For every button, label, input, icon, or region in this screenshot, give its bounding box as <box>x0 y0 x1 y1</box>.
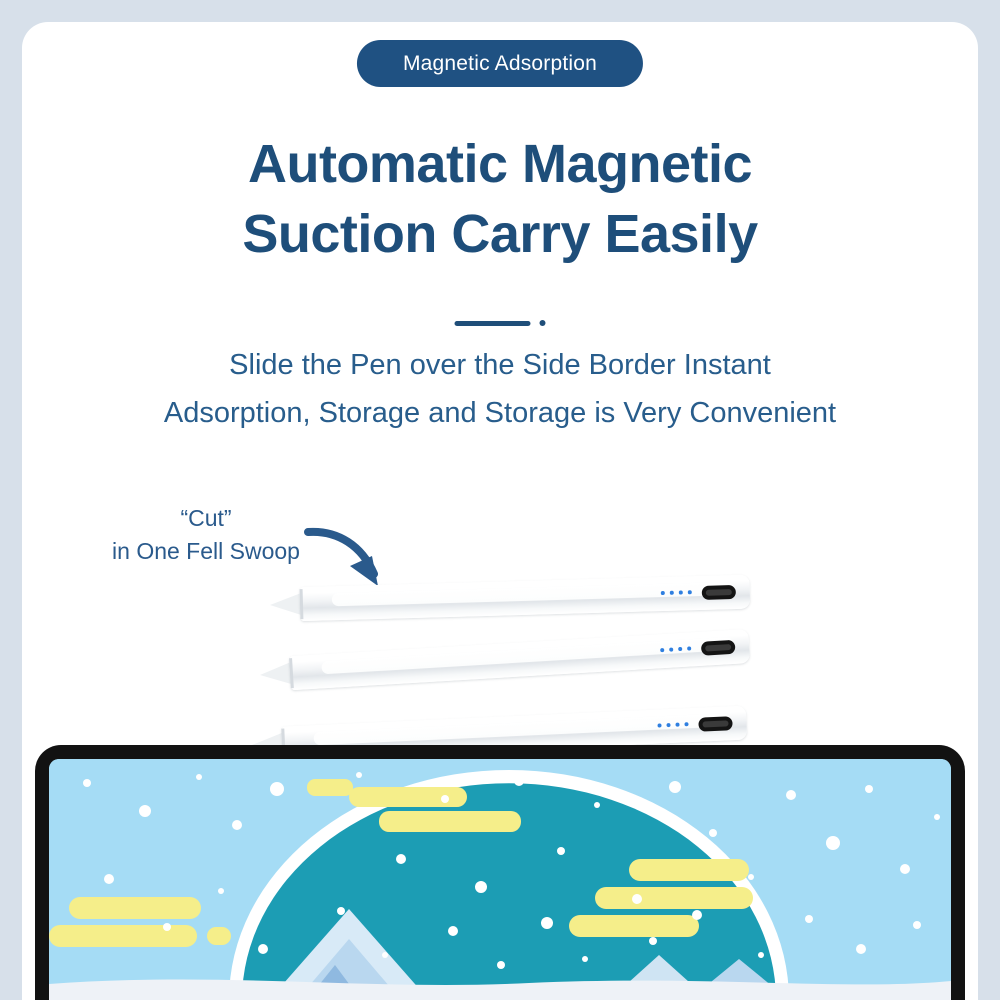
subtitle: Slide the Pen over the Side Border Insta… <box>22 342 978 438</box>
headline-line-1: Automatic Magnetic <box>22 129 978 199</box>
pen-led <box>678 647 682 651</box>
pen-led <box>687 646 691 650</box>
page-title: Automatic Magnetic Suction Carry Easily <box>22 129 978 269</box>
pen-top <box>270 575 751 622</box>
pen-led <box>666 723 670 727</box>
tablet-screen <box>49 759 951 1000</box>
winter-scene-illustration <box>49 759 951 1000</box>
pen-led <box>669 647 673 651</box>
divider-bar <box>455 321 531 326</box>
content-card: Magnetic Adsorption Automatic Magnetic S… <box>22 22 978 1000</box>
badge-magnetic-adsorption: Magnetic Adsorption <box>357 40 643 87</box>
product-marketing-page: Magnetic Adsorption Automatic Magnetic S… <box>0 0 1000 1000</box>
pen-led <box>670 591 674 595</box>
divider <box>455 320 546 326</box>
usb-c-port <box>702 585 736 600</box>
pen-led <box>684 722 688 726</box>
pen-led-indicators <box>661 590 692 595</box>
usb-c-port <box>701 640 736 656</box>
annotation-quote: “Cut” <box>76 502 336 535</box>
pen-led <box>657 723 661 727</box>
headline-line-2: Suction Carry Easily <box>22 199 978 269</box>
divider-dot <box>540 320 546 326</box>
pen-led <box>675 723 679 727</box>
pen-led <box>661 591 665 595</box>
pen-led <box>688 590 692 594</box>
pen-led <box>679 590 683 594</box>
subtitle-line-1: Slide the Pen over the Side Border Insta… <box>22 342 978 390</box>
pen-middle <box>259 629 750 692</box>
pen-led <box>660 648 664 652</box>
subtitle-line-2: Adsorption, Storage and Storage is Very … <box>22 390 978 438</box>
usb-c-port <box>698 716 733 732</box>
tablet-device <box>35 745 965 1000</box>
